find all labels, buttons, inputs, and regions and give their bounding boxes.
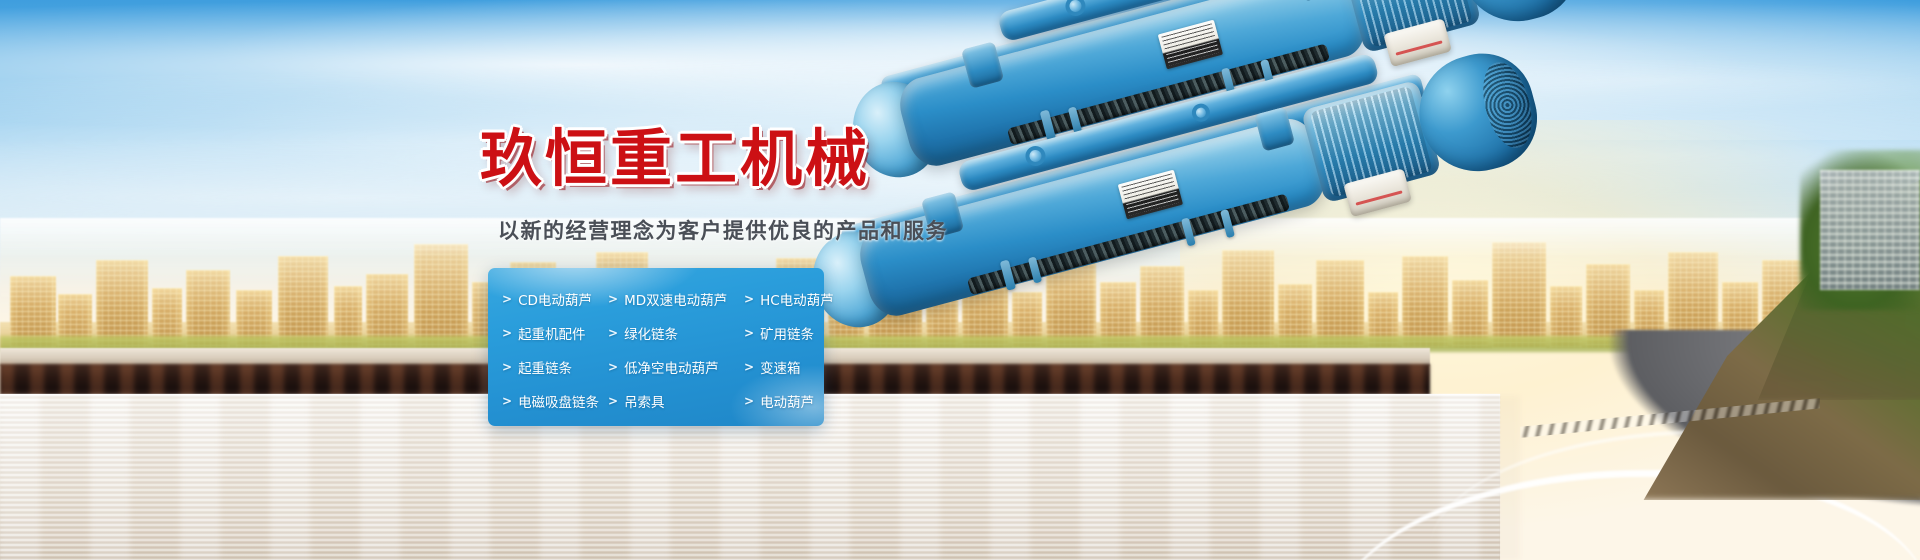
product-link[interactable]: >HC电动葫芦 (744, 289, 838, 309)
chevron-right-icon: > (744, 292, 754, 306)
chevron-right-icon: > (608, 326, 618, 340)
chevron-right-icon: > (502, 326, 512, 340)
banner-subheadline: 以新的经营理念为客户提供优良的产品和服务 (498, 215, 948, 245)
product-link-label: 绿化链条 (624, 323, 678, 343)
chevron-right-icon: > (744, 360, 754, 374)
electric-hoist-product-image (860, 40, 1920, 460)
chevron-right-icon: > (608, 292, 618, 306)
chevron-right-icon: > (744, 394, 754, 408)
product-link[interactable]: >矿用链条 (744, 323, 838, 343)
product-links-panel: >CD电动葫芦>MD双速电动葫芦>HC电动葫芦>起重机配件>绿化链条>矿用链条>… (488, 268, 824, 426)
chevron-right-icon: > (744, 326, 754, 340)
product-link-label: CD电动葫芦 (518, 289, 592, 309)
product-link-label: 电动葫芦 (760, 391, 814, 411)
product-link-label: 吊索具 (624, 391, 665, 411)
product-link-label: 起重机配件 (518, 323, 586, 343)
product-link[interactable]: >起重链条 (502, 357, 608, 377)
product-link-label: 矿用链条 (760, 323, 814, 343)
product-link[interactable]: >电动葫芦 (744, 391, 838, 411)
product-link[interactable]: >吊索具 (608, 391, 744, 411)
chevron-right-icon: > (502, 394, 512, 408)
chevron-right-icon: > (608, 394, 618, 408)
product-link[interactable]: >CD电动葫芦 (502, 289, 608, 309)
product-link[interactable]: >绿化链条 (608, 323, 744, 343)
product-link[interactable]: >电磁吸盘链条 (502, 391, 608, 411)
chevron-right-icon: > (608, 360, 618, 374)
product-link[interactable]: >变速箱 (744, 357, 838, 377)
banner-headline: 玖恒重工机械 (480, 108, 870, 198)
product-link-label: MD双速电动葫芦 (624, 289, 727, 309)
product-link-label: 变速箱 (760, 357, 801, 377)
chevron-right-icon: > (502, 292, 512, 306)
product-link-label: HC电动葫芦 (760, 289, 834, 309)
product-links-grid: >CD电动葫芦>MD双速电动葫芦>HC电动葫芦>起重机配件>绿化链条>矿用链条>… (488, 282, 824, 418)
product-link[interactable]: >低净空电动葫芦 (608, 357, 744, 377)
product-link-label: 低净空电动葫芦 (624, 357, 719, 377)
product-link[interactable]: >起重机配件 (502, 323, 608, 343)
product-link[interactable]: >MD双速电动葫芦 (608, 289, 744, 309)
hero-banner: 玖恒重工机械 以新的经营理念为客户提供优良的产品和服务 >CD电动葫芦>MD双速… (0, 0, 1920, 560)
product-link-label: 电磁吸盘链条 (518, 391, 599, 411)
product-link-label: 起重链条 (518, 357, 572, 377)
chevron-right-icon: > (502, 360, 512, 374)
